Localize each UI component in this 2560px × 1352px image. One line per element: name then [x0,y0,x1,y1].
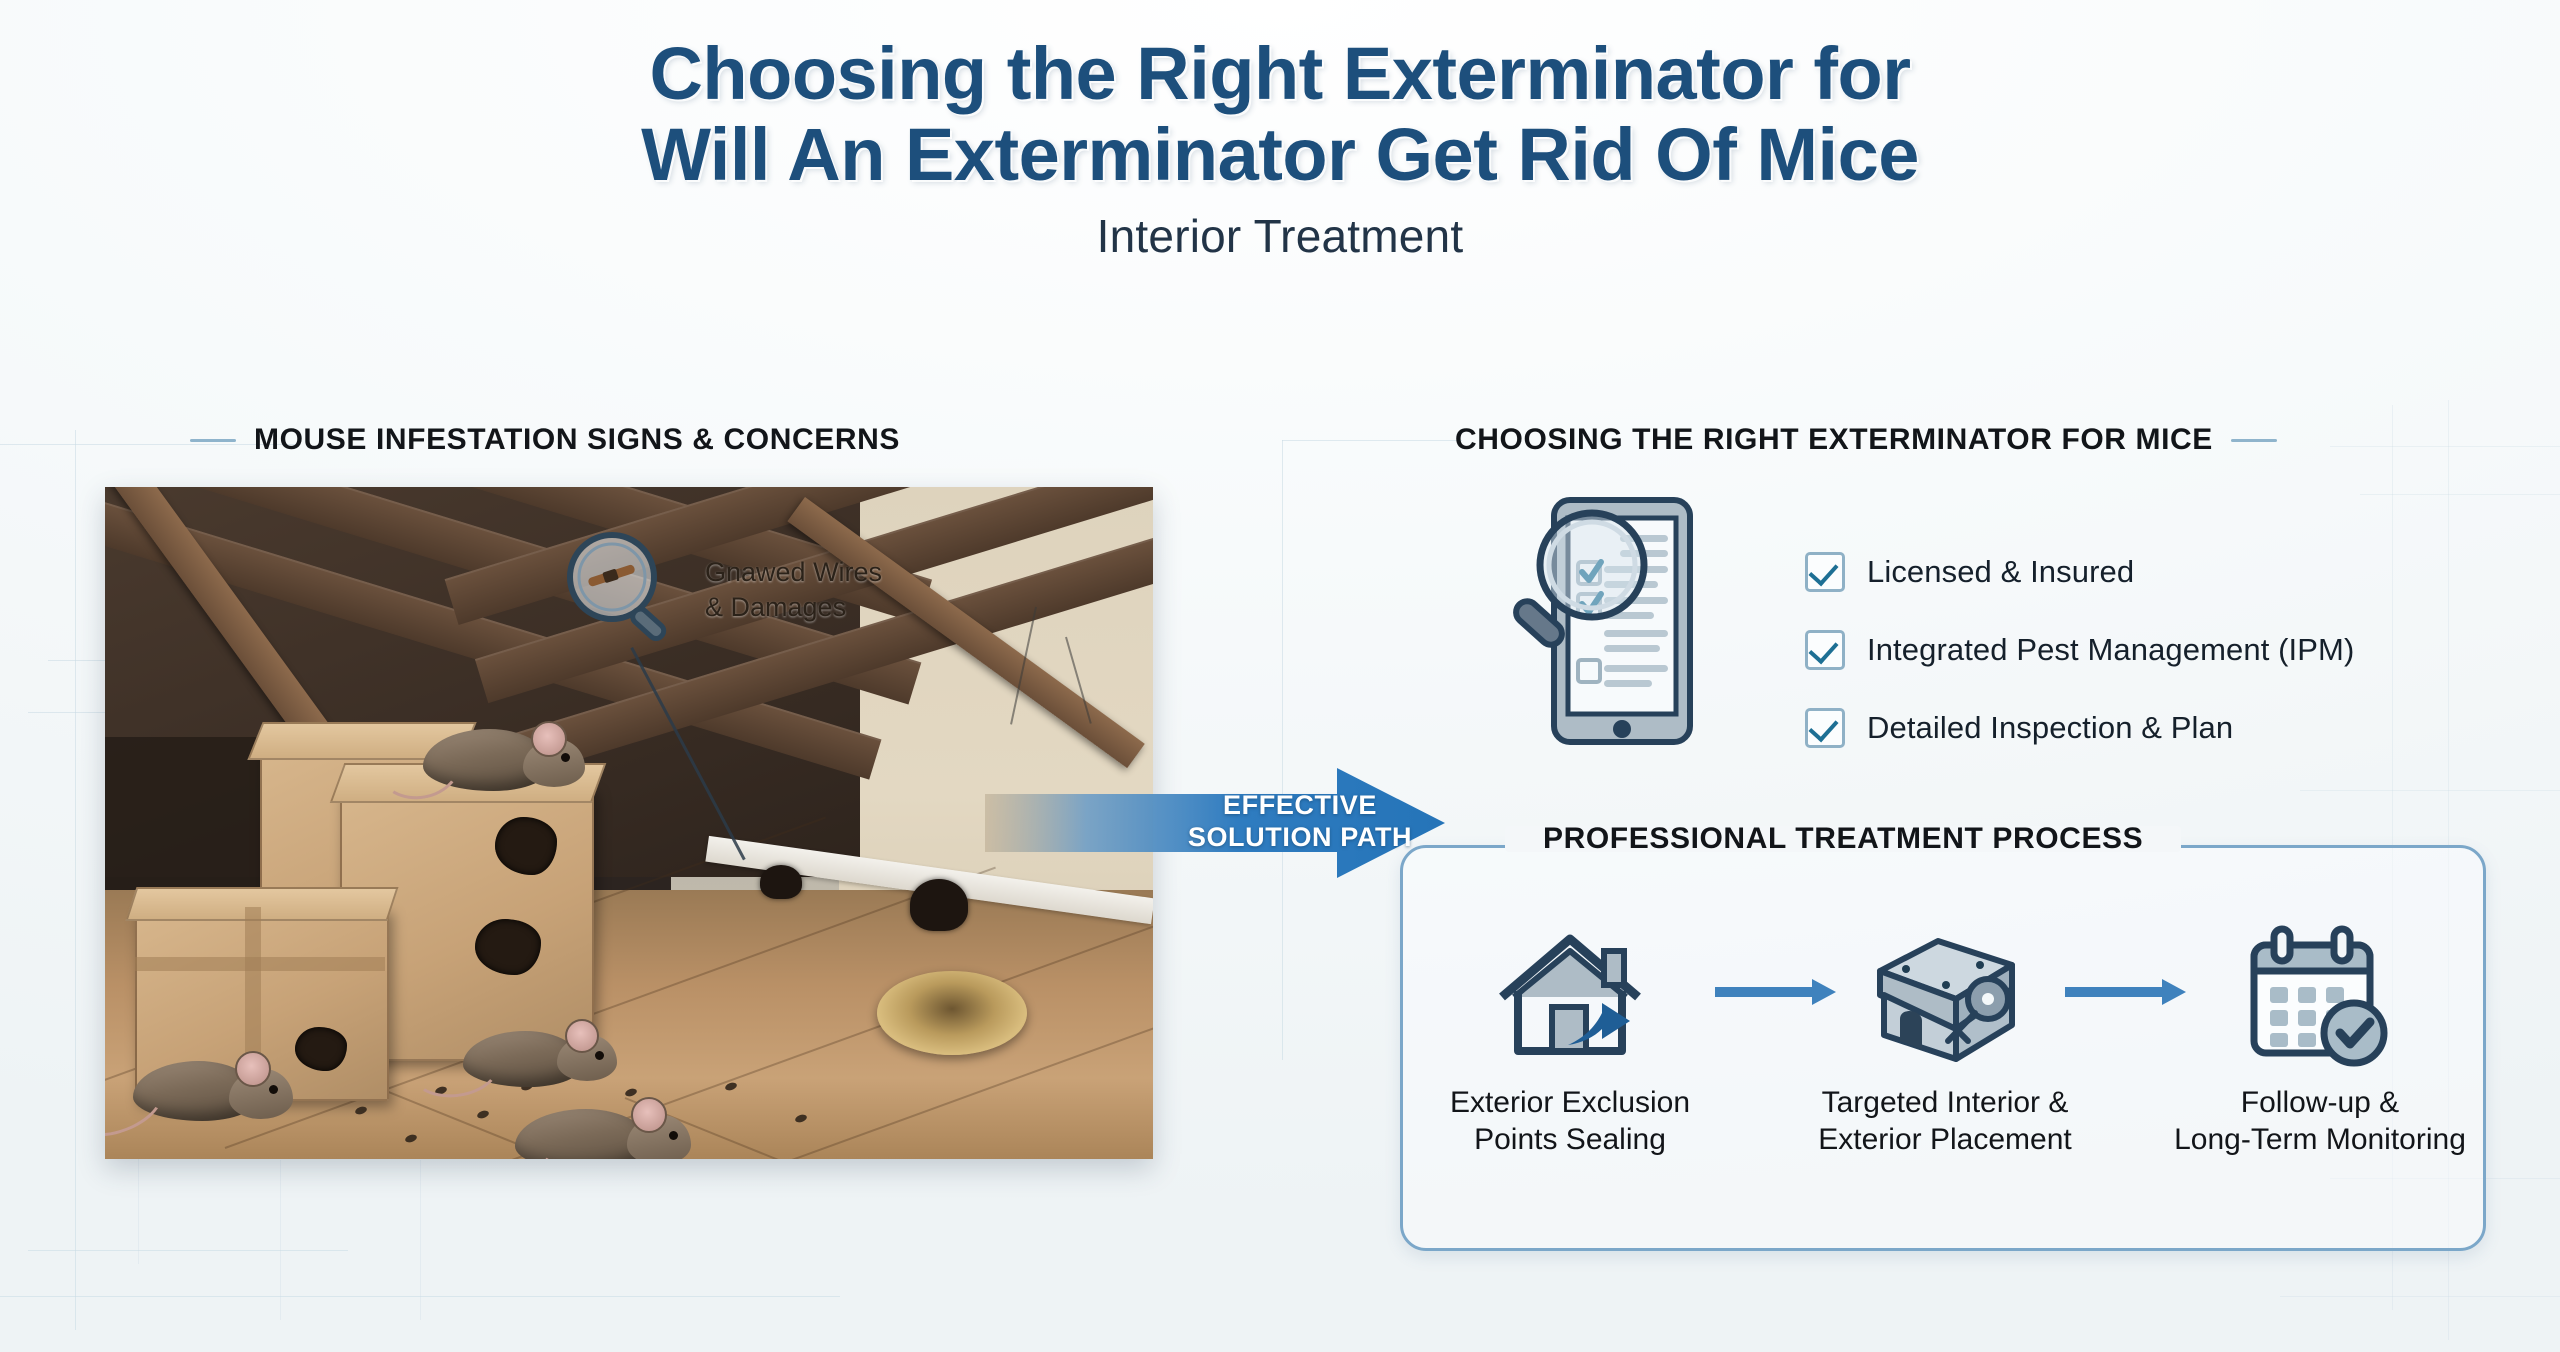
criteria-item[interactable]: Licensed & Insured [1805,552,2354,592]
treatment-process-label: Professional Treatment Process [1543,822,2143,856]
rodent-nest [877,971,1027,1055]
treatment-steps: Exterior Exclusion Points Sealing [1420,915,2470,1158]
mouse-eye [595,1051,604,1060]
treatment-step: Follow-up & Long-Term Monitoring [2170,915,2470,1158]
treatment-step: Targeted Interior & Exterior Placement [1795,915,2095,1158]
mouse-eye [669,1131,678,1140]
step-label-line-1: Exterior Exclusion [1420,1085,1720,1122]
magnifier-icon [560,529,680,649]
page-title-line-1: Choosing the Right Exterminator for [0,34,2560,115]
callout-line-2: & Damages [705,590,882,625]
step-label: Exterior Exclusion Points Sealing [1420,1085,1720,1158]
mouse [107,1043,317,1135]
mouse-ear [235,1051,271,1087]
checkbox-checked-icon[interactable] [1805,708,1845,748]
checkbox-checked-icon[interactable] [1805,552,1845,592]
step-label-line-2: Long-Term Monitoring [2170,1122,2470,1159]
section-rule-right [2231,439,2277,442]
criteria-label: Integrated Pest Management (IPM) [1867,632,2354,668]
page-subtitle: Interior Treatment [0,209,2560,263]
step-label-line-1: Follow-up & [2170,1085,2470,1122]
criteria-item[interactable]: Integrated Pest Management (IPM) [1805,630,2354,670]
right-section-label-text: Choosing the Right Exterminator for Mice [1455,423,2213,457]
section-rule-left [190,439,236,442]
checkbox-checked-icon[interactable] [1805,630,1845,670]
header: Choosing the Right Exterminator for Will… [0,34,2560,263]
mouse-ear [565,1019,599,1053]
step-label-line-1: Targeted Interior & [1795,1085,2095,1122]
callout-line-1: Gnawed Wires [705,555,882,590]
step-label: Targeted Interior & Exterior Placement [1795,1085,2095,1158]
cardboard-box-top [125,887,398,921]
criteria-item[interactable]: Detailed Inspection & Plan [1805,708,2354,748]
right-section-label: Choosing the Right Exterminator for Mice [1455,423,2277,457]
page-title-line-2: Will An Exterminator Get Rid Of Mice [0,115,2560,196]
treatment-step: Exterior Exclusion Points Sealing [1420,915,1720,1158]
mouse [501,1087,721,1159]
tablet-checklist-magnifier-icon [1500,490,1700,750]
step-label-line-2: Points Sealing [1420,1122,1720,1159]
box-tape [135,957,385,971]
criteria-checklist: Licensed & Insured Integrated Pest Manag… [1805,552,2354,786]
mouse-eye [269,1085,278,1094]
step-label: Follow-up & Long-Term Monitoring [2170,1085,2470,1158]
mouse-eye [561,753,570,762]
connector-label-line-2: Solution Path [1185,822,1415,854]
treatment-process-header: Professional Treatment Process [1525,822,2161,856]
connector-label-line-1: Effective [1185,790,1415,822]
house-exclusion-icon [1420,915,1720,1075]
page-title: Choosing the Right Exterminator for Will… [0,34,2560,195]
connector-label: Effective Solution Path [1185,790,1415,854]
infographic-canvas: Choosing the Right Exterminator for Will… [0,0,2560,1352]
mouse [405,709,595,799]
mouse-ear [631,1097,667,1133]
criteria-label: Detailed Inspection & Plan [1867,710,2233,746]
left-section-label: Mouse Infestation Signs & Concerns [190,423,900,457]
callout-text: Gnawed Wires & Damages [705,555,882,624]
criteria-label: Licensed & Insured [1867,554,2134,590]
gnawed-hole [910,879,968,931]
mouse-ear [531,721,567,757]
left-section-label-text: Mouse Infestation Signs & Concerns [254,423,900,457]
gnawed-hole [760,865,802,899]
calendar-check-icon [2170,915,2470,1075]
bait-station-key-icon [1795,915,2095,1075]
step-label-line-2: Exterior Placement [1795,1122,2095,1159]
